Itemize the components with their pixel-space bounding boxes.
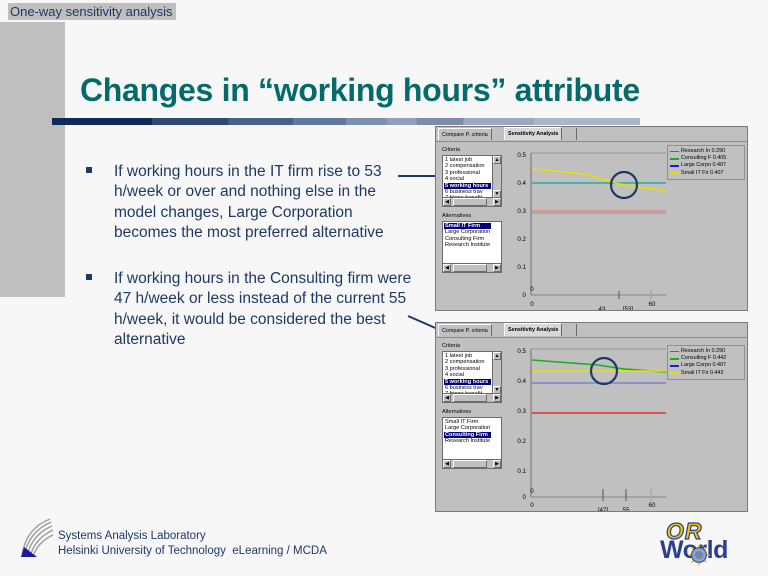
criteria-rows: 1 latest job 2 compensation 3 profession… [444,353,491,398]
legend-label: Consulting F [681,155,711,162]
scroll-up-icon[interactable]: ▲ [493,352,501,360]
list-item: If working hours in the Consulting firm … [86,269,416,350]
list-item[interactable]: 2 compensation [444,163,491,169]
tab-sensitivity-analysis[interactable]: Sensitivity Analysis [504,323,562,336]
legend-value: 0.442 [710,370,724,377]
legend-item: Consulting F 0.405 [670,155,742,162]
legend-item: Research In 0.290 [670,148,742,155]
legend-item: Consulting F 0.442 [670,355,742,362]
legend-value: 0.442 [713,355,727,362]
list-item[interactable]: Research Institute [444,438,491,444]
legend-label: Large Corpo [681,162,711,169]
criteria-label: Criteria [442,343,460,349]
slide-canvas: One-way sensitivity analysis Changes in … [0,0,768,576]
bullet-text: If working hours in the IT firm rise to … [114,162,416,243]
scroll-thumb[interactable] [453,460,487,468]
legend-item: Small IT Fir 0.442 [670,370,742,377]
legend-swatch-icon [670,358,679,360]
alternatives-listbox[interactable]: Small IT Firm Large Corporation Consulti… [442,417,502,469]
scroll-thumb[interactable] [453,198,487,206]
tab-sensitivity-analysis[interactable]: Sensitivity Analysis [504,127,562,140]
xtick-label: 60 [649,502,656,509]
bullet-text: If working hours in the Consulting firm … [114,269,416,350]
criteria-rows: 1 latest job 2 compensation 3 profession… [444,157,491,202]
xtick-label: 43 [599,306,606,311]
sensitivity-chart-top: 0.5 0.4 0.3 0.2 0.1 0 0 [506,143,666,311]
tabstrip: Compare P. criteria Sensitivity Analysis [436,127,747,142]
scroll-left-icon[interactable]: ◀ [443,460,451,468]
scroll-right-icon[interactable]: ▶ [493,460,501,468]
ytick-label: 0.5 [517,152,526,159]
tabstrip-divider [576,324,577,336]
legend-value: 0.407 [712,162,726,169]
scroll-thumb[interactable] [453,264,487,272]
bullet-square-icon [86,167,92,173]
legend-label: Consulting F [681,355,711,362]
criteria-horizontal-scrollbar[interactable]: ◀ ▶ [443,197,501,206]
ytick-label: 0.5 [517,348,526,355]
legend-item: Large Corpo 0.407 [670,162,742,169]
criteria-listbox[interactable]: 1 latest job 2 compensation 3 profession… [442,351,502,403]
legend-value: 0.405 [713,155,727,162]
alternatives-rows: Small IT Firm Large Corporation Consulti… [444,223,491,249]
tabstrip: Compare P. criteria Sensitivity Analysis [436,323,747,338]
alternatives-label: Alternatives [442,213,471,219]
slide-kicker: One-way sensitivity analysis [8,3,176,20]
xtick-label: [47] [598,507,609,512]
series-small-it-firm [532,169,666,191]
footer-credits: Systems Analysis Laboratory Helsinki Uni… [58,529,327,559]
legend-item: Research In 0.290 [670,348,742,355]
xtick-label: 0 [530,301,534,308]
scroll-left-icon[interactable]: ◀ [443,394,451,402]
list-item[interactable]: Research Institute [444,242,491,248]
legend-swatch-icon [670,372,679,374]
criteria-vertical-scrollbar[interactable]: ▲ ▼ [492,156,501,198]
list-item[interactable]: Large Corporation [444,425,491,431]
app-window-top[interactable]: Compare P. criteria Sensitivity Analysis… [435,126,748,311]
xtick-label: 0 [530,286,534,293]
legend-swatch-icon [670,165,679,167]
alternatives-horizontal-scrollbar[interactable]: ◀ ▶ [443,459,501,468]
criteria-listbox[interactable]: 1 latest job 2 compensation 3 profession… [442,155,502,207]
xtick-label: 60 [649,301,656,308]
tab-compare-criteria[interactable]: Compare P. criteria [438,128,492,140]
criteria-label: Criteria [442,147,460,153]
title-underline-rule [52,118,640,125]
legend-swatch-icon [670,365,679,367]
ytick-label: 0.2 [517,236,526,243]
legend-value: 0.407 [712,362,726,369]
ytick-label: 0.2 [517,438,526,445]
scroll-right-icon[interactable]: ▶ [493,264,501,272]
sal-wing-logo [18,516,58,561]
alternatives-horizontal-scrollbar[interactable]: ◀ ▶ [443,263,501,272]
scroll-thumb[interactable] [453,394,487,402]
xtick-label: 0 [530,488,534,495]
chart-legend-bottom: Research In 0.290 Consulting F 0.442 Lar… [667,345,745,380]
page-title: Changes in “working hours” attribute [80,72,640,109]
xtick-label: 55 [623,507,630,512]
scroll-left-icon[interactable]: ◀ [443,198,451,206]
footer-line-2: Helsinki University of Technology [58,545,226,557]
ytick-label: 0 [523,292,527,299]
scroll-left-icon[interactable]: ◀ [443,264,451,272]
legend-value: 0.290 [712,148,726,155]
app-window-bottom[interactable]: Compare P. criteria Sensitivity Analysis… [435,322,748,512]
legend-label: Research In [681,348,710,355]
list-item: If working hours in the IT firm rise to … [86,162,416,243]
legend-label: Small IT Fir [681,170,708,177]
footer-line-1: Systems Analysis Laboratory [58,530,206,542]
scroll-up-icon[interactable]: ▲ [493,156,501,164]
decorative-gray-panel [0,22,65,297]
legend-value: 0.407 [710,170,724,177]
xtick-label: [53] [623,306,634,311]
alternatives-rows: Small IT Firm Large Corporation Consulti… [444,419,491,445]
ytick-label: 0.4 [517,180,526,187]
criteria-horizontal-scrollbar[interactable]: ◀ ▶ [443,393,501,402]
scroll-right-icon[interactable]: ▶ [493,198,501,206]
legend-swatch-icon [670,158,679,160]
legend-swatch-icon [670,151,679,153]
ytick-label: 0.3 [517,408,526,415]
ytick-label: 0.1 [517,468,526,475]
alternatives-listbox[interactable]: Small IT Firm Large Corporation Consulti… [442,221,502,273]
legend-item: Small IT Fir 0.407 [670,170,742,177]
chart-legend-top: Research In 0.290 Consulting F 0.405 Lar… [667,145,745,180]
xtick-label: 0 [530,502,534,509]
bullet-list: If working hours in the IT firm rise to … [86,162,416,376]
criteria-vertical-scrollbar[interactable]: ▲ ▼ [492,352,501,394]
legend-swatch-icon [670,172,679,174]
ytick-label: 0.4 [517,378,526,385]
globe-icon [688,544,710,566]
ytick-label: 0.3 [517,208,526,215]
legend-value: 0.290 [712,348,726,355]
legend-swatch-icon [670,351,679,353]
footer-line-3: eLearning / MCDA [232,545,327,557]
scroll-right-icon[interactable]: ▶ [493,394,501,402]
legend-label: Research In [681,148,710,155]
alternatives-label: Alternatives [442,409,471,415]
legend-label: Small IT Fir [681,370,708,377]
list-item[interactable]: 2 compensation [444,359,491,365]
legend-label: Large Corpo [681,362,711,369]
tab-compare-criteria[interactable]: Compare P. criteria [438,324,492,336]
ytick-label: 0.1 [517,264,526,271]
ytick-label: 0 [523,494,527,501]
legend-item: Large Corpo 0.407 [670,362,742,369]
tabstrip-divider [576,128,577,140]
bullet-square-icon [86,274,92,280]
list-item[interactable]: Large Corporation [444,229,491,235]
sensitivity-chart-bottom: 0.5 0.4 0.3 0.2 0.1 0 0 0 [506,339,666,512]
